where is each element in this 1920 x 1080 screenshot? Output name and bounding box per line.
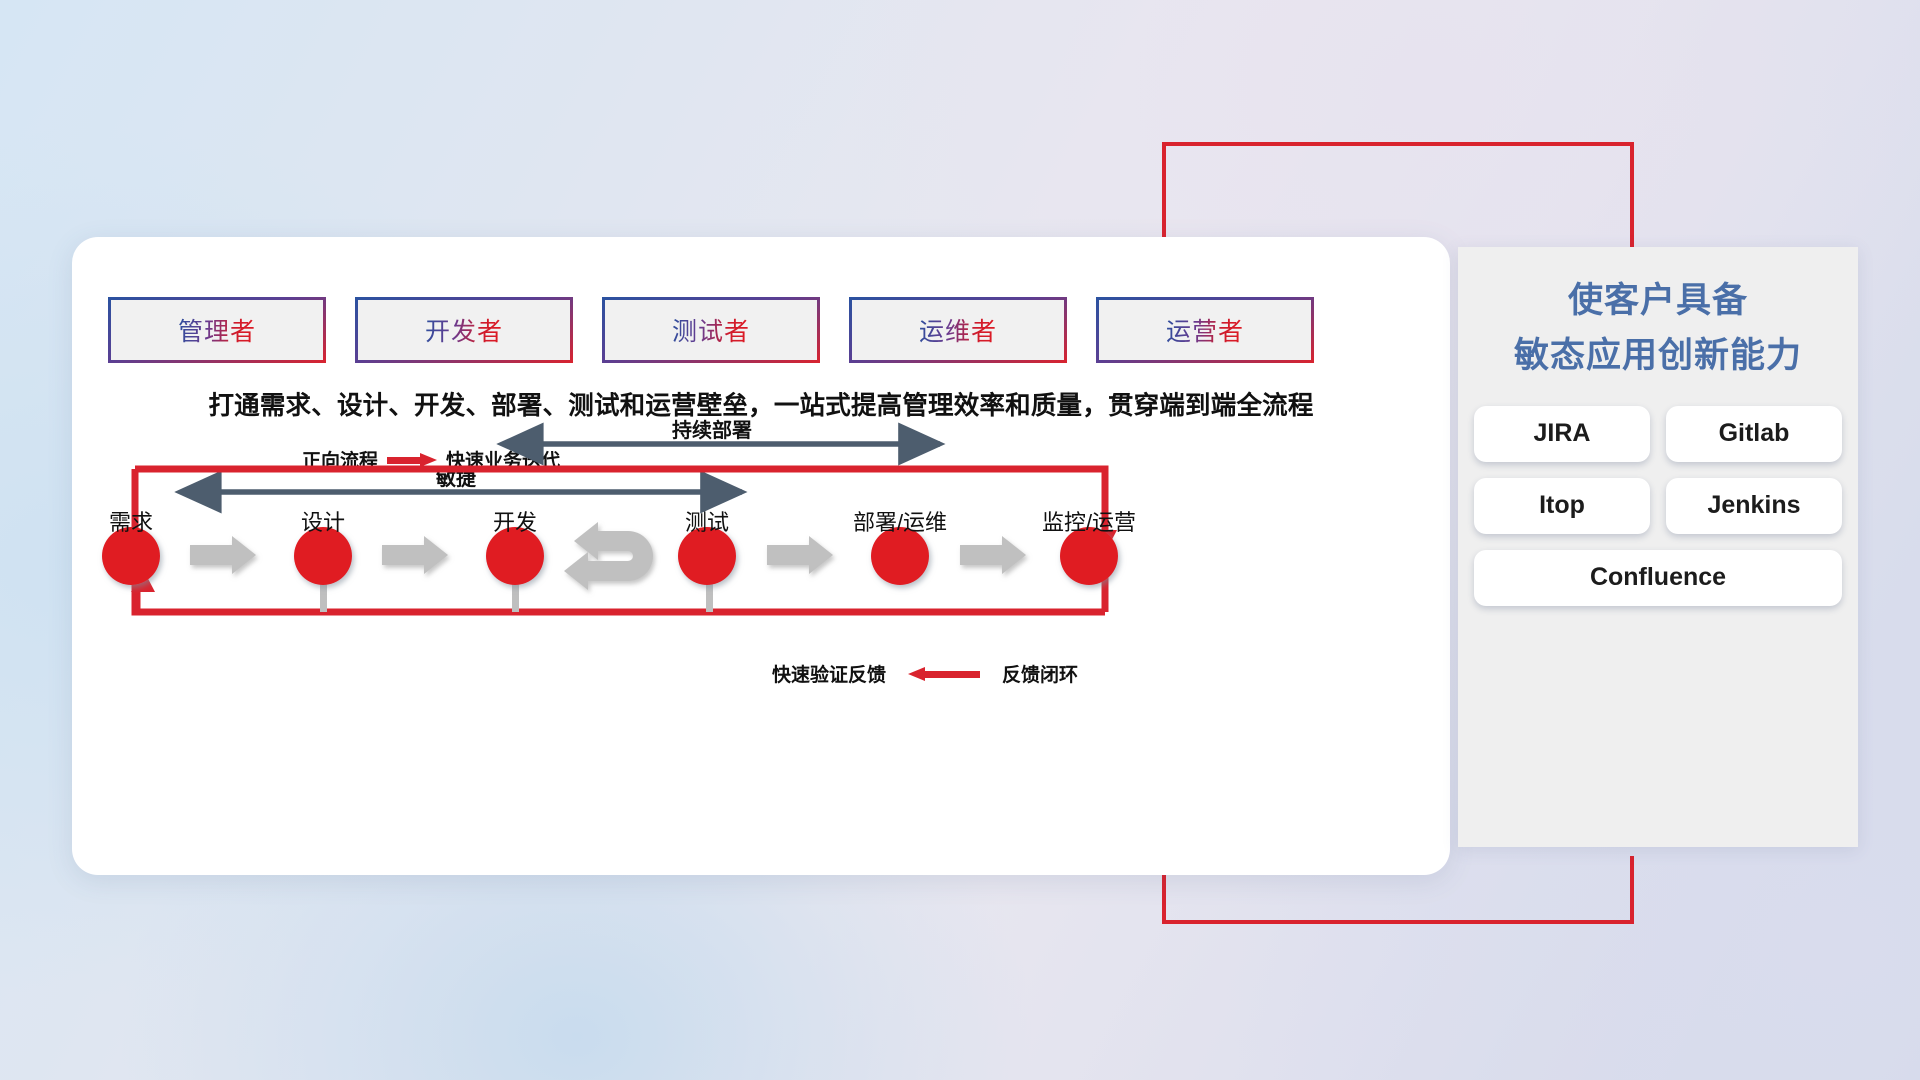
panel-title: 使客户具备 敏态应用创新能力 (1458, 247, 1858, 384)
node-label-requirement: 需求 (109, 505, 153, 537)
node-label-deploy-ops: 部署/运维 (853, 505, 947, 537)
legend-feedback-right-label: 反馈闭环 (1002, 660, 1078, 687)
node-label-develop: 开发 (493, 505, 537, 537)
legend-feedback-loop: 快速验证反馈 反馈闭环 (772, 660, 1078, 687)
outcome-panel: 使客户具备 敏态应用创新能力 JIRA Gitlab Itop Jenkins … (1458, 247, 1858, 847)
pipeline-graphics (72, 237, 1450, 875)
tool-chip-confluence[interactable]: Confluence (1474, 550, 1842, 606)
tool-chip-jenkins[interactable]: Jenkins (1666, 478, 1842, 534)
slide-canvas: 管理者 开发者 测试者 运维者 运营者 打通需求、设计、开发、部署、测试和运营壁… (0, 0, 1920, 1080)
arrow-left-icon (908, 667, 980, 680)
tool-chip-itop[interactable]: Itop (1474, 478, 1650, 534)
devops-overview-card: 管理者 开发者 测试者 运维者 运营者 打通需求、设计、开发、部署、测试和运营壁… (72, 237, 1450, 875)
node-label-monitor-ops: 监控/运营 (1042, 505, 1136, 537)
tool-chip-gitlab[interactable]: Gitlab (1666, 406, 1842, 462)
legend-feedback-left-label: 快速验证反馈 (772, 660, 886, 687)
tool-chip-grid: JIRA Gitlab Itop Jenkins Confluence (1474, 406, 1842, 606)
node-label-design: 设计 (301, 505, 345, 537)
tool-chip-jira[interactable]: JIRA (1474, 406, 1650, 462)
panel-title-line2: 敏态应用创新能力 (1458, 328, 1858, 383)
node-label-test: 测试 (685, 505, 729, 537)
panel-title-line1: 使客户具备 (1458, 273, 1858, 328)
